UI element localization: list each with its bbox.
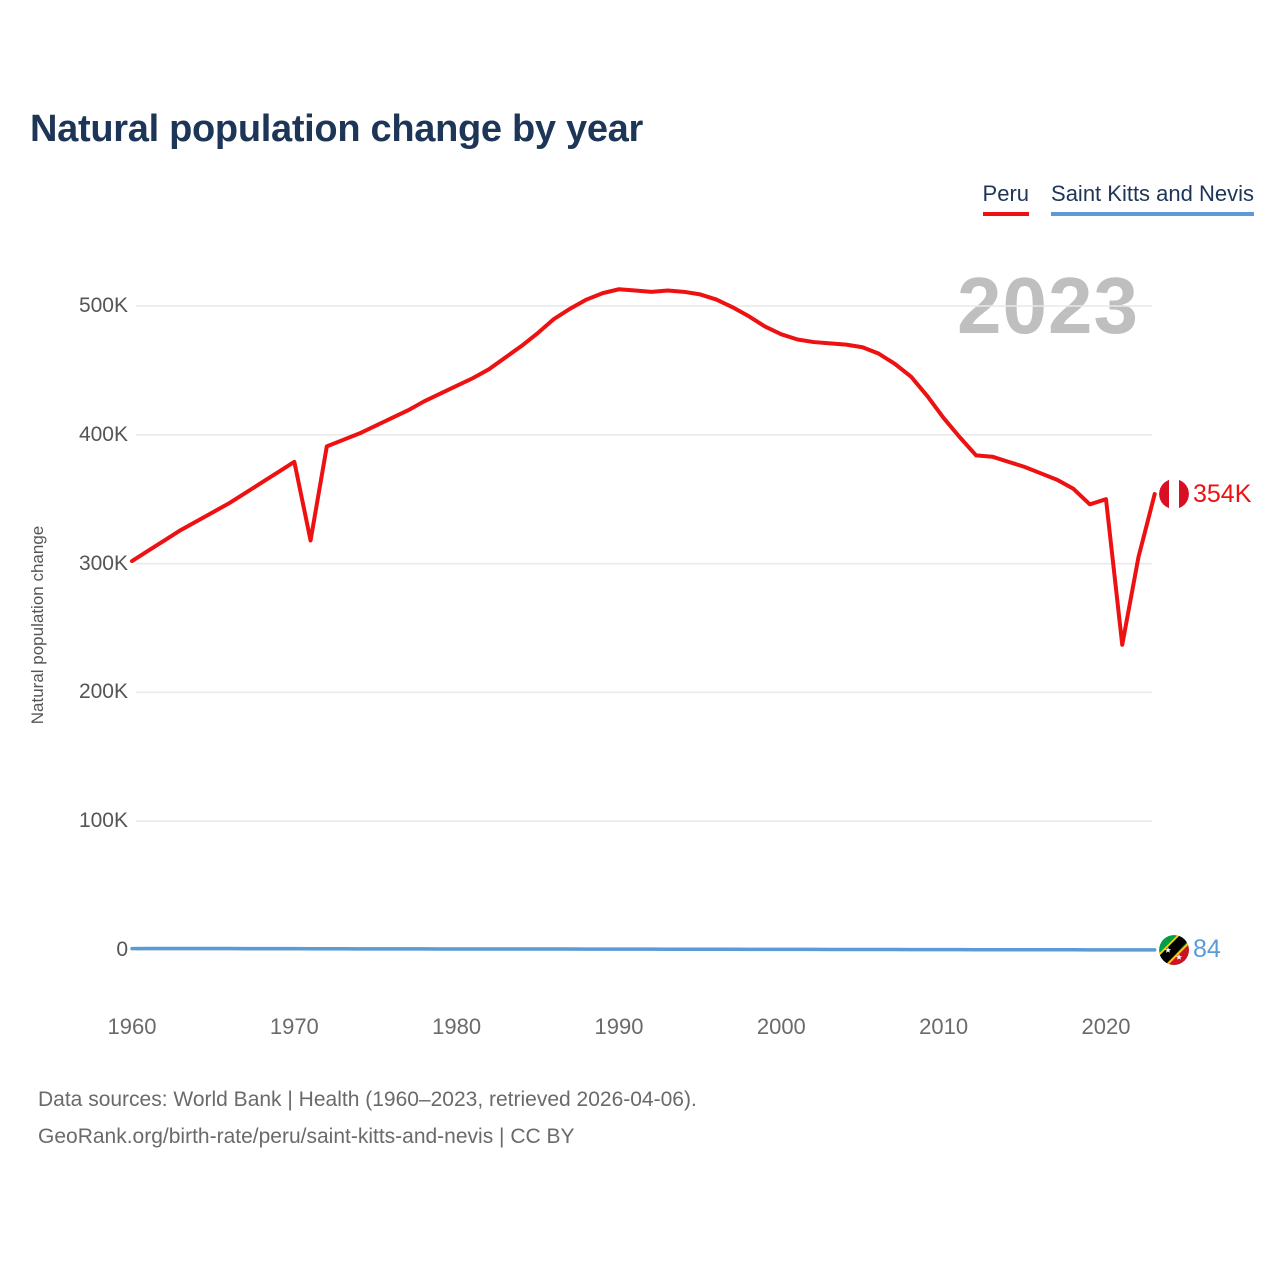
end-label-peru: 354K <box>1159 479 1251 509</box>
y-tick-label: 500K <box>8 294 128 318</box>
x-tick-label: 1990 <box>595 1014 644 1040</box>
gridlines <box>136 306 1152 950</box>
footer-note: Data sources: World Bank | Health (1960–… <box>38 1082 697 1156</box>
footer-line-2: GeoRank.org/birth-rate/peru/saint-kitts-… <box>38 1119 697 1156</box>
end-label-saint-kitts-and-nevis: 84 <box>1159 935 1221 965</box>
y-tick-label: 200K <box>8 680 128 704</box>
footer-line-1: Data sources: World Bank | Health (1960–… <box>38 1082 697 1119</box>
series-line-peru <box>132 289 1155 644</box>
x-tick-label: 1980 <box>432 1014 481 1040</box>
saint-kitts-and-nevis-flag-icon <box>1159 935 1189 965</box>
series-line-saint-kitts-and-nevis <box>132 949 1155 950</box>
end-label-skn-value: 84 <box>1193 935 1221 964</box>
x-tick-label: 1960 <box>108 1014 157 1040</box>
peru-flag-icon <box>1159 479 1189 509</box>
y-tick-label: 0 <box>8 938 128 962</box>
x-tick-label: 1970 <box>270 1014 319 1040</box>
x-tick-label: 2010 <box>919 1014 968 1040</box>
x-tick-label: 2020 <box>1082 1014 1131 1040</box>
x-tick-label: 2000 <box>757 1014 806 1040</box>
chart-page: Natural population change by year Peru S… <box>0 0 1280 1280</box>
y-tick-label: 300K <box>8 552 128 576</box>
end-label-peru-value: 354K <box>1193 480 1251 509</box>
y-tick-label: 400K <box>8 423 128 447</box>
y-tick-label: 100K <box>8 809 128 833</box>
series-lines <box>132 289 1155 950</box>
